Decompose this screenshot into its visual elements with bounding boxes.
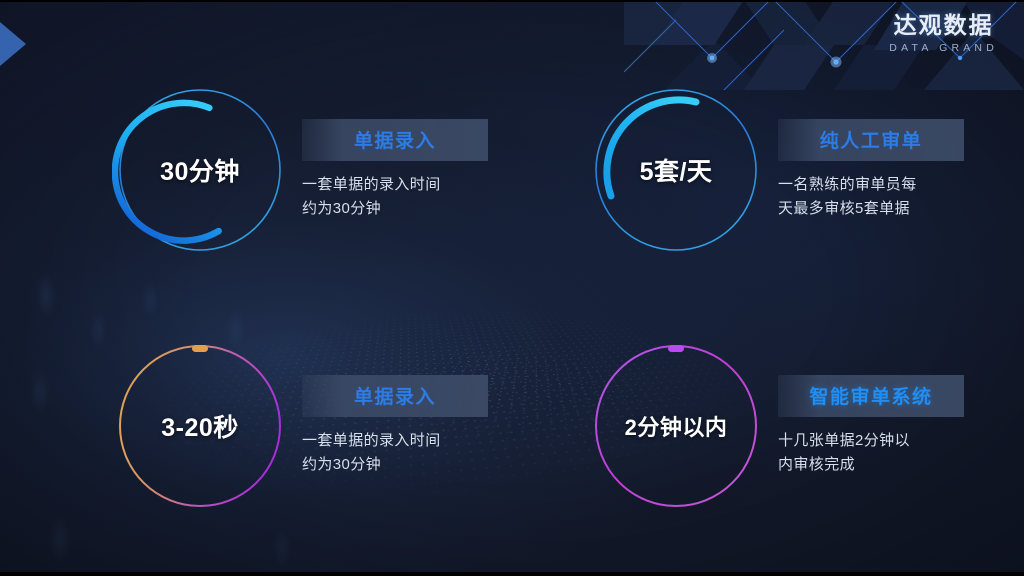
metric-description-line1: 一套单据的录入时间 [302,429,488,453]
metric-info: 智能审单系统 十几张单据2分钟以 内审核完成 [778,375,964,478]
metric-description: 一套单据的录入时间 约为30分钟 [302,173,488,222]
metric-description: 一名熟练的审单员每 天最多审核5套单据 [778,173,964,222]
metric-description-line1: 一套单据的录入时间 [302,173,488,197]
progress-ring: 3-20秒 [112,338,288,514]
metric-badge: 单据录入 [302,375,488,417]
metric-badge-label: 智能审单系统 [809,387,932,408]
metric-badge-label: 单据录入 [354,131,436,152]
metric-badge-label: 单据录入 [354,387,436,408]
letterbox-top [0,0,1024,2]
metric-description-line2: 内审核完成 [778,453,964,477]
metric-value: 3-20秒 [112,338,288,514]
metric-info: 纯人工审单 一名熟练的审单员每 天最多审核5套单据 [778,119,964,222]
metric-card-grid: 30分钟 单据录入 一套单据的录入时间 约为30分钟 [0,0,1024,576]
metric-badge-label: 纯人工审单 [820,131,923,152]
metric-description-line1: 一名熟练的审单员每 [778,173,964,197]
metric-card: 30分钟 单据录入 一套单据的录入时间 约为30分钟 [112,82,488,258]
progress-ring: 5套/天 [588,82,764,258]
metric-value: 5套/天 [588,82,764,258]
letterbox-bottom [0,572,1024,576]
metric-value: 2分钟以内 [588,338,764,514]
metric-description-line2: 约为30分钟 [302,453,488,477]
progress-ring: 2分钟以内 [588,338,764,514]
metric-card: 5套/天 纯人工审单 一名熟练的审单员每 天最多审核5套单据 [588,82,964,258]
metric-description: 一套单据的录入时间 约为30分钟 [302,429,488,478]
slide-canvas: 达观数据 DATA GRAND [0,0,1024,576]
metric-card: 3-20秒 单据录入 一套单据的录入时间 约为30分钟 [112,338,488,514]
metric-description: 十几张单据2分钟以 内审核完成 [778,429,964,478]
metric-card: 2分钟以内 智能审单系统 十几张单据2分钟以 内审核完成 [588,338,964,514]
metric-badge: 单据录入 [302,119,488,161]
metric-value: 30分钟 [112,82,288,258]
metric-description-line2: 天最多审核5套单据 [778,197,964,221]
metric-description-line1: 十几张单据2分钟以 [778,429,964,453]
metric-badge: 纯人工审单 [778,119,964,161]
metric-badge: 智能审单系统 [778,375,964,417]
metric-description-line2: 约为30分钟 [302,197,488,221]
metric-info: 单据录入 一套单据的录入时间 约为30分钟 [302,375,488,478]
progress-ring: 30分钟 [112,82,288,258]
metric-info: 单据录入 一套单据的录入时间 约为30分钟 [302,119,488,222]
